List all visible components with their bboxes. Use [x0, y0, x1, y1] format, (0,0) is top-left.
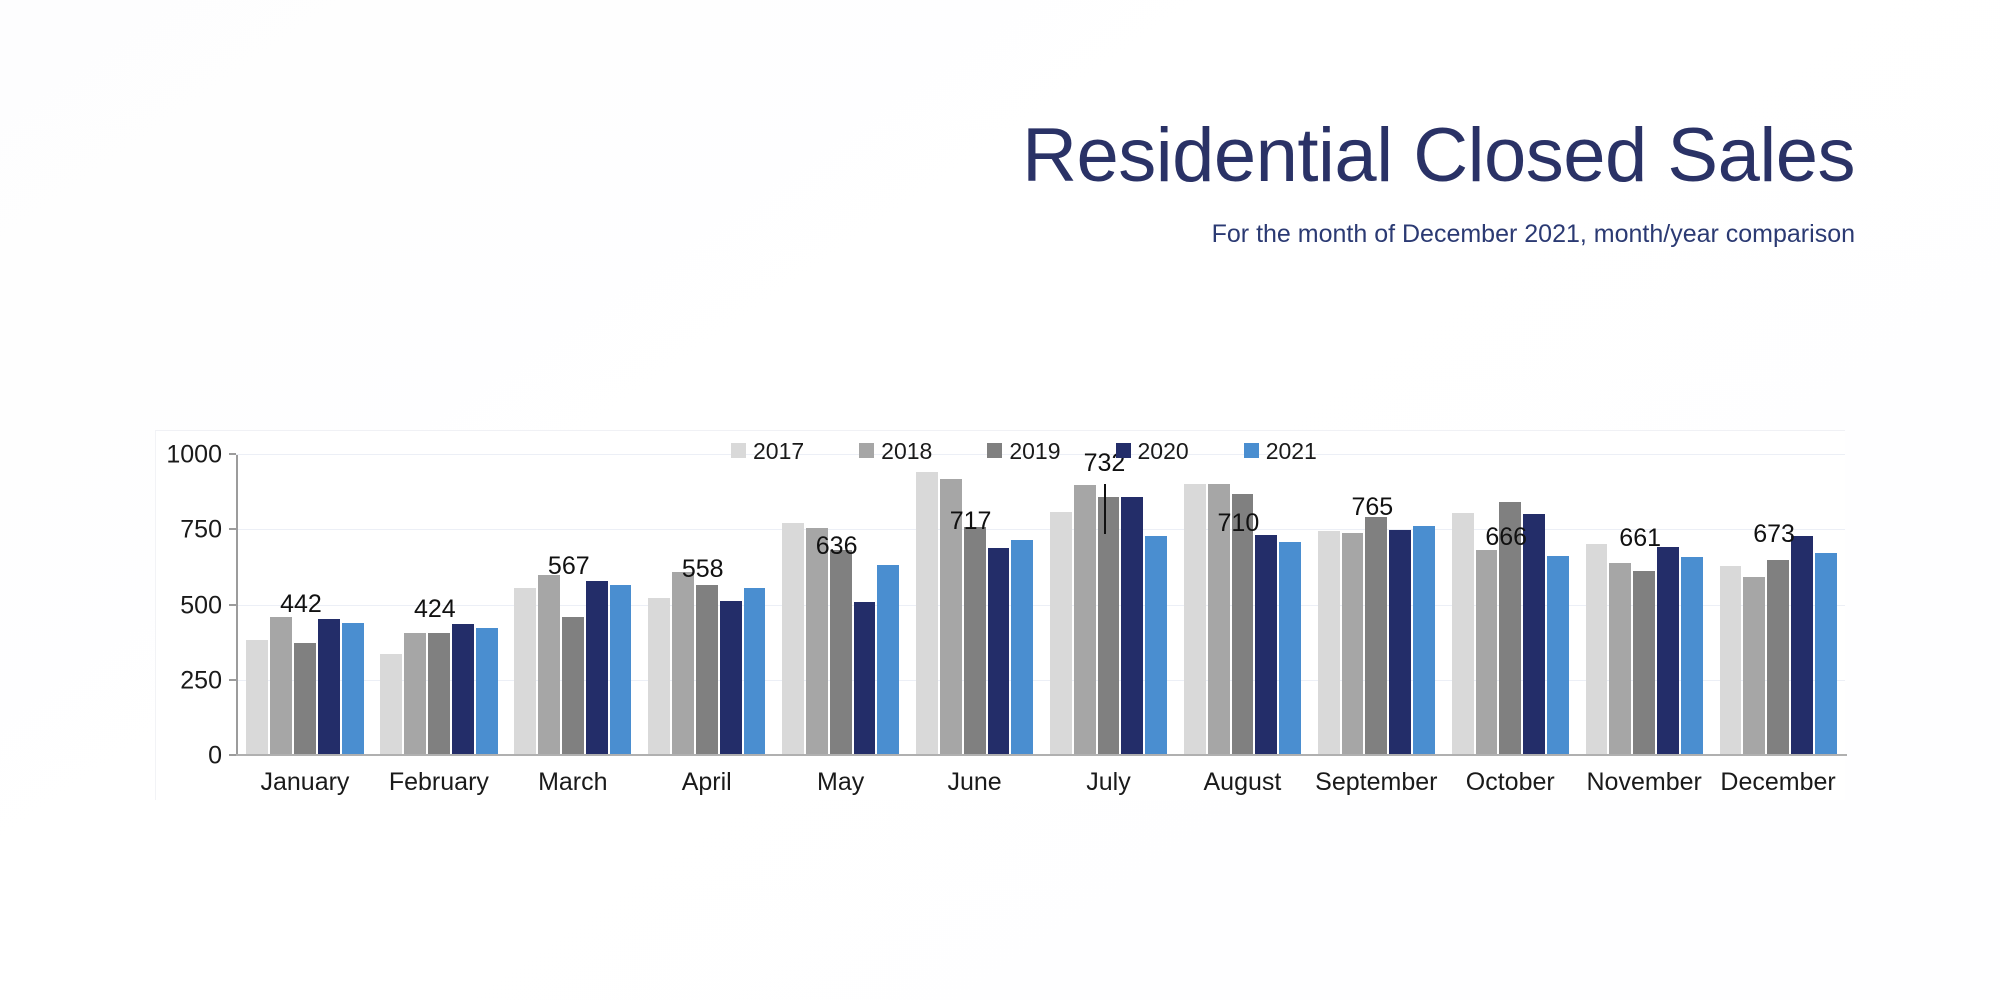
y-tick-mark — [229, 528, 236, 530]
chart-header: Residential Closed Sales For the month o… — [0, 118, 1855, 249]
y-tick-mark — [229, 604, 236, 606]
bar-group-november: 661November — [1577, 455, 1711, 756]
bar-slot — [1097, 455, 1121, 756]
bar-april-2017[interactable] — [648, 598, 670, 756]
bar-slot — [1144, 455, 1168, 756]
bar-april-2021[interactable] — [744, 588, 766, 756]
x-axis-label-november: November — [1587, 768, 1702, 797]
page-subtitle: For the month of December 2021, month/ye… — [0, 220, 1855, 249]
bar-groups: 442January424February567March558April636… — [238, 455, 1845, 756]
bar-slot — [987, 455, 1011, 756]
bar-slot — [876, 455, 900, 756]
legend-item-2020[interactable]: 2020 — [1116, 439, 1189, 462]
bar-group-october: 666October — [1443, 455, 1577, 756]
bar-june-2021[interactable] — [1011, 540, 1033, 756]
bar-slot — [1207, 455, 1231, 756]
bars — [781, 455, 900, 756]
bar-slot — [1498, 455, 1522, 756]
bar-group-march: 567March — [506, 455, 640, 756]
bar-value-label: 442 — [280, 590, 322, 619]
bar-value-label: 661 — [1619, 524, 1661, 553]
legend-swatch-icon-2017 — [731, 443, 746, 458]
bar-november-2020[interactable] — [1657, 547, 1679, 756]
bar-group-april: 558April — [640, 455, 774, 756]
bar-value-label: 673 — [1753, 520, 1795, 549]
bar-slot — [1656, 455, 1680, 756]
bar-value-label: 424 — [414, 595, 456, 624]
bar-september-2019[interactable] — [1365, 517, 1387, 756]
bar-january-2021[interactable] — [342, 623, 364, 756]
y-tick-mark — [229, 679, 236, 681]
bar-slot — [781, 455, 805, 756]
bar-january-2020[interactable] — [318, 619, 340, 756]
bar-february-2019[interactable] — [428, 633, 450, 756]
bar-slot — [1608, 455, 1632, 756]
bar-august-2020[interactable] — [1255, 535, 1277, 756]
bar-july-2019[interactable] — [1098, 497, 1120, 756]
bar-slot — [1317, 455, 1341, 756]
bar-may-2021[interactable] — [877, 565, 899, 756]
bar-october-2021[interactable] — [1547, 556, 1569, 756]
bar-group-july: 732July — [1042, 455, 1176, 756]
bar-group-may: 636May — [774, 455, 908, 756]
bar-slot — [1451, 455, 1475, 756]
page-title: Residential Closed Sales — [0, 118, 1855, 194]
bar-september-2020[interactable] — [1389, 530, 1411, 756]
bar-value-label: 567 — [548, 552, 590, 581]
bar-april-2018[interactable] — [672, 572, 694, 756]
bar-slot — [1475, 455, 1499, 756]
bar-slot — [1049, 455, 1073, 756]
bars — [1049, 455, 1168, 756]
bar-slot — [1585, 455, 1609, 756]
bar-may-2018[interactable] — [806, 528, 828, 756]
y-axis-line — [236, 455, 238, 756]
bar-slot — [1719, 455, 1743, 756]
x-axis-label-april: April — [682, 768, 732, 797]
y-axis-label: 250 — [180, 666, 222, 695]
bar-january-2018[interactable] — [270, 617, 292, 756]
bar-slot — [743, 455, 767, 756]
x-axis-label-december: December — [1720, 768, 1835, 797]
x-axis-label-july: July — [1086, 768, 1130, 797]
legend-label: 2017 — [753, 440, 804, 463]
bar-june-2019[interactable] — [964, 527, 986, 756]
bar-september-2021[interactable] — [1413, 526, 1435, 756]
bar-slot — [1010, 455, 1034, 756]
bar-slot — [1073, 455, 1097, 756]
bar-december-2019[interactable] — [1767, 560, 1789, 756]
legend-swatch-icon-2020 — [1116, 443, 1131, 458]
chart-container: 20172018201920202021 02505007501000 442J… — [155, 430, 1845, 800]
bar-march-2018[interactable] — [538, 575, 560, 756]
bar-february-2018[interactable] — [404, 633, 426, 756]
bar-slot — [1766, 455, 1790, 756]
y-tick-mark — [229, 754, 236, 756]
bar-april-2019[interactable] — [696, 585, 718, 756]
x-axis-label-september: September — [1315, 768, 1437, 797]
bar-slot — [609, 455, 633, 756]
x-axis-label-january: January — [260, 768, 349, 797]
legend-swatch-icon-2019 — [987, 443, 1002, 458]
bar-june-2017[interactable] — [916, 472, 938, 756]
bar-slot — [1546, 455, 1570, 756]
bar-slot — [1632, 455, 1656, 756]
bar-slot — [963, 455, 987, 756]
bar-march-2017[interactable] — [514, 588, 536, 756]
bar-august-2021[interactable] — [1279, 542, 1301, 756]
bar-july-2018[interactable] — [1074, 485, 1096, 756]
bar-slot — [245, 455, 269, 756]
y-axis-label: 0 — [208, 742, 222, 771]
bar-december-2018[interactable] — [1743, 577, 1765, 756]
bars — [647, 455, 766, 756]
bar-group-february: 424February — [372, 455, 506, 756]
bar-slot — [805, 455, 829, 756]
plot-inner: 02505007501000 442January424February567M… — [236, 455, 1845, 756]
bar-february-2021[interactable] — [476, 628, 498, 756]
bar-slot — [1814, 455, 1838, 756]
bar-slot — [719, 455, 743, 756]
bar-value-label: 717 — [950, 507, 992, 536]
legend-swatch-icon-2021 — [1244, 443, 1259, 458]
legend-item-2018[interactable]: 2018 — [859, 439, 932, 462]
bar-slot — [475, 455, 499, 756]
bars — [1183, 455, 1302, 756]
bar-february-2017[interactable] — [380, 654, 402, 756]
bars — [1585, 455, 1704, 756]
bar-july-2017[interactable] — [1050, 512, 1072, 756]
x-axis-label-may: May — [817, 768, 864, 797]
bar-may-2017[interactable] — [782, 523, 804, 756]
y-tick-mark — [229, 453, 236, 455]
y-axis-label: 1000 — [166, 441, 222, 470]
bar-value-label: 558 — [682, 555, 724, 584]
x-axis-line — [236, 754, 1847, 756]
chart-legend: 20172018201920202021 — [731, 439, 1317, 462]
bar-slot — [671, 455, 695, 756]
bar-slot — [1742, 455, 1766, 756]
bar-august-2017[interactable] — [1184, 484, 1206, 756]
x-axis-label-october: October — [1466, 768, 1555, 797]
bar-slot — [1183, 455, 1207, 756]
bar-february-2020[interactable] — [452, 624, 474, 756]
bar-slot — [647, 455, 671, 756]
value-leader-line — [1104, 484, 1106, 534]
bar-value-label: 710 — [1218, 509, 1260, 538]
bar-november-2017[interactable] — [1586, 544, 1608, 756]
bar-slot — [1278, 455, 1302, 756]
bar-october-2017[interactable] — [1452, 513, 1474, 756]
bar-slot — [1120, 455, 1144, 756]
bar-slot — [1254, 455, 1278, 756]
bar-slot — [695, 455, 719, 756]
bar-group-january: 442January — [238, 455, 372, 756]
bar-group-june: 717June — [908, 455, 1042, 756]
bar-july-2020[interactable] — [1121, 497, 1143, 756]
bar-january-2017[interactable] — [246, 640, 268, 756]
bars — [1719, 455, 1838, 756]
bar-november-2021[interactable] — [1681, 557, 1703, 756]
bar-december-2021[interactable] — [1815, 553, 1837, 756]
bar-july-2021[interactable] — [1145, 536, 1167, 756]
bar-slot — [1231, 455, 1255, 756]
plot-area: 02505007501000 442January424February567M… — [236, 455, 1845, 756]
legend-swatch-icon-2018 — [859, 443, 874, 458]
bar-january-2019[interactable] — [294, 643, 316, 756]
bar-may-2019[interactable] — [830, 550, 852, 756]
bar-slot — [537, 455, 561, 756]
bar-value-label: 636 — [816, 532, 858, 561]
bar-december-2020[interactable] — [1791, 536, 1813, 756]
bar-slot — [379, 455, 403, 756]
legend-label: 2018 — [881, 440, 932, 463]
bar-may-2020[interactable] — [854, 602, 876, 756]
bar-slot — [939, 455, 963, 756]
x-axis-label-march: March — [538, 768, 607, 797]
bar-november-2019[interactable] — [1633, 571, 1655, 756]
x-axis-label-june: June — [947, 768, 1001, 797]
bars — [1451, 455, 1570, 756]
bar-value-label: 666 — [1485, 523, 1527, 552]
bar-september-2018[interactable] — [1342, 533, 1364, 756]
bar-november-2018[interactable] — [1609, 563, 1631, 756]
bar-june-2020[interactable] — [988, 548, 1010, 756]
bar-group-september: 765September — [1309, 455, 1443, 756]
bar-slot — [829, 455, 853, 756]
legend-item-2019[interactable]: 2019 — [987, 439, 1060, 462]
bar-slot — [1680, 455, 1704, 756]
bar-slot — [341, 455, 365, 756]
bar-group-december: 673December — [1711, 455, 1845, 756]
bar-slot — [585, 455, 609, 756]
bar-april-2020[interactable] — [720, 601, 742, 756]
legend-item-2017[interactable]: 2017 — [731, 439, 804, 462]
x-axis-label-august: August — [1203, 768, 1281, 797]
bar-slot — [561, 455, 585, 756]
bars — [915, 455, 1034, 756]
bar-slot — [1412, 455, 1436, 756]
bar-march-2019[interactable] — [562, 617, 584, 756]
legend-label: 2021 — [1266, 440, 1317, 463]
bar-slot — [1522, 455, 1546, 756]
x-axis-label-february: February — [389, 768, 489, 797]
bar-september-2017[interactable] — [1318, 531, 1340, 756]
bar-march-2021[interactable] — [610, 585, 632, 756]
bar-group-august: 710August — [1175, 455, 1309, 756]
bar-value-label: 765 — [1351, 493, 1393, 522]
bar-december-2017[interactable] — [1720, 566, 1742, 756]
legend-label: 2019 — [1009, 440, 1060, 463]
legend-label: 2020 — [1138, 440, 1189, 463]
slide-canvas: Residential Closed Sales For the month o… — [0, 0, 2000, 1000]
bar-slot — [513, 455, 537, 756]
bar-october-2018[interactable] — [1476, 550, 1498, 756]
bar-slot — [915, 455, 939, 756]
bar-slot — [1790, 455, 1814, 756]
bar-march-2020[interactable] — [586, 581, 608, 756]
bar-slot — [853, 455, 877, 756]
y-axis-label: 500 — [180, 591, 222, 620]
legend-item-2021[interactable]: 2021 — [1244, 439, 1317, 462]
y-axis-label: 750 — [180, 516, 222, 545]
bars — [513, 455, 632, 756]
